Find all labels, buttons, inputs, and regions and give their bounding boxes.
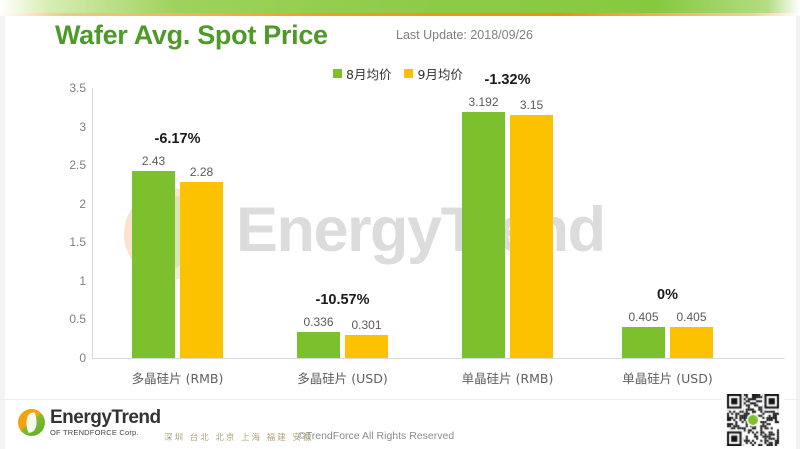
chart-legend: 8月均价9月均价: [333, 64, 463, 83]
x-axis-category-label: 多晶硅片 (USD): [257, 368, 428, 387]
office-cities: 深圳 台北 北京 上海 福建 安徽: [164, 431, 314, 443]
bar-value-label: 3.192: [462, 95, 505, 109]
copyright-text: ©TrendForce All Rights Reserved: [298, 430, 454, 442]
bar-group: 3.1923.15-1.32%: [462, 88, 553, 358]
x-axis-category-label: 多晶硅片 (RMB): [92, 368, 263, 387]
last-update-text: Last Update: 2018/09/26: [396, 28, 533, 42]
logo-name: EnergyTrend: [50, 408, 161, 427]
bar-value-label: 2.28: [180, 165, 223, 179]
bar-august[interactable]: [622, 327, 665, 358]
legend-swatch-september: [404, 69, 413, 78]
y-axis-tick-label: 2: [40, 197, 86, 211]
bar-september[interactable]: [345, 335, 388, 358]
legend-label: 9月均价: [417, 64, 462, 83]
bar-value-label: 0.336: [297, 315, 340, 329]
slide-right-edge: [796, 0, 800, 449]
page-title: Wafer Avg. Spot Price: [55, 20, 328, 51]
y-axis-tick-label: 2.5: [40, 158, 86, 172]
y-axis-tick-label: 3.5: [40, 81, 86, 95]
chart-plot-area: 2.432.28-6.17%0.3360.301-10.57%3.1923.15…: [92, 88, 785, 358]
change-annotation: -1.32%: [462, 72, 553, 88]
change-annotation: -6.17%: [132, 131, 223, 147]
bar-value-label: 3.15: [510, 98, 553, 112]
y-axis-tick-label: 1.5: [40, 235, 86, 249]
bar-value-label: 0.405: [622, 310, 665, 324]
bar-value-label: 2.43: [132, 154, 175, 168]
leaf-logo-icon: [18, 409, 45, 436]
bar-august[interactable]: [297, 332, 340, 358]
change-annotation: -10.57%: [297, 292, 388, 308]
qr-code-canvas: [722, 394, 784, 446]
legend-item: 9月均价: [404, 64, 462, 83]
y-axis-tick-label: 1: [40, 274, 86, 288]
energytrend-logo: EnergyTrend OF TRENDFORCE Corp.: [18, 408, 161, 437]
y-axis-tick-label: 0: [40, 351, 86, 365]
y-axis-tick-label: 0.5: [40, 312, 86, 326]
bar-september[interactable]: [510, 115, 553, 358]
bar-group: 0.4050.4050%: [622, 88, 713, 358]
bar-group: 2.432.28-6.17%: [132, 88, 223, 358]
bar-august[interactable]: [132, 171, 175, 358]
x-axis-category-label: 单晶硅片 (USD): [582, 368, 753, 387]
legend-label: 8月均价: [346, 64, 391, 83]
x-axis-line: [92, 358, 785, 359]
bar-september[interactable]: [670, 327, 713, 358]
change-annotation: 0%: [622, 287, 713, 303]
top-orange-rule: [0, 13, 800, 16]
top-green-band: [0, 0, 800, 13]
legend-swatch-august: [333, 69, 342, 78]
bar-august[interactable]: [462, 112, 505, 358]
y-axis-tick-labels: 3.532.521.510.50: [38, 88, 86, 358]
bar-value-label: 0.301: [345, 318, 388, 332]
bar-september[interactable]: [180, 182, 223, 358]
qr-code[interactable]: [722, 394, 784, 446]
slide-left-edge: [0, 0, 5, 449]
footer-divider: [0, 399, 800, 400]
legend-item: 8月均价: [333, 64, 391, 83]
bar-group: 0.3360.301-10.57%: [297, 88, 388, 358]
bar-value-label: 0.405: [670, 310, 713, 324]
x-axis-category-label: 单晶硅片 (RMB): [422, 368, 593, 387]
y-axis-tick-label: 3: [40, 120, 86, 134]
logo-subtitle: OF TRENDFORCE Corp.: [50, 429, 161, 437]
